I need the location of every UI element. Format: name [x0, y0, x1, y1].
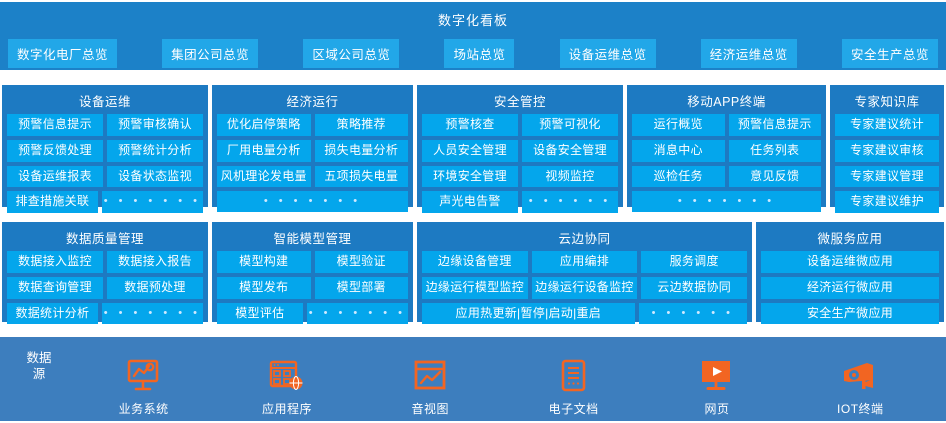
tile-0-1[interactable]: 预警信息提示	[729, 114, 822, 136]
tile-1-0[interactable]: 消息中心	[632, 140, 725, 162]
tile-row: 风机理论发电量 五项损失电量	[217, 166, 408, 188]
tile-row: 数据查询管理 数据预处理	[7, 277, 203, 299]
tile-0-2[interactable]: 服务调度	[641, 251, 747, 273]
tile-2-0[interactable]: 环境安全管理	[422, 166, 518, 188]
tile-2-0[interactable]: 安全生产微应用	[761, 303, 939, 325]
panel-title: 数据质量管理	[7, 226, 203, 251]
tile-row: 边缘设备管理 应用编排 服务调度	[422, 251, 747, 273]
tile-row: 巡检任务 意见反馈	[632, 166, 821, 188]
tile-0-0[interactable]: 预警核查	[422, 114, 518, 136]
header-tab-3[interactable]: 场站总览	[444, 39, 514, 68]
tile-row: 经济运行微应用	[761, 277, 939, 299]
header-tab-0[interactable]: 数字化电厂总览	[8, 39, 117, 68]
tile-1-0[interactable]: 预警反馈处理	[7, 140, 103, 162]
tile-3-0[interactable]: 排查措施关联	[7, 191, 98, 213]
tile-more-indicator: • • • • • • •	[102, 191, 203, 213]
datasource-item-label: 电子文档	[549, 400, 599, 417]
tile-1-0[interactable]: 数据查询管理	[7, 277, 103, 299]
tile-row: 环境安全管理 视频监控	[422, 166, 618, 188]
tile-1-1[interactable]: 损失电量分析	[315, 140, 409, 162]
business-system-icon	[126, 356, 162, 396]
header-tab-1[interactable]: 集团公司总览	[162, 39, 258, 68]
tile-row: 安全生产微应用	[761, 303, 939, 325]
tile-1-0[interactable]: 经济运行微应用	[761, 277, 939, 299]
panel-microservice-app: 微服务应用 设备运维微应用 经济运行微应用 安全生产微应用	[756, 222, 944, 322]
tile-1-1[interactable]: 数据预处理	[107, 277, 203, 299]
tile-0-0[interactable]: 数据接入监控	[7, 251, 103, 273]
page-title: 数字化看板	[0, 2, 946, 29]
datasource-item-media[interactable]: 音视图	[375, 356, 485, 417]
iot-camera-icon	[841, 356, 879, 396]
tile-row: 人员安全管理 设备安全管理	[422, 140, 618, 162]
tile-row: 数据统计分析 • • • • • • •	[7, 303, 203, 325]
document-icon	[559, 356, 589, 396]
datasource-item-business-system[interactable]: 业务系统	[89, 356, 199, 417]
tile-1-1[interactable]: 模型部署	[315, 277, 409, 299]
datasource-item-label: 应用程序	[262, 400, 312, 417]
tile-2-0[interactable]: 设备运维报表	[7, 166, 103, 188]
panel-title: 云边协同	[422, 226, 747, 251]
tile-0-1[interactable]: 数据接入报告	[107, 251, 203, 273]
tile-0-0[interactable]: 模型构建	[217, 251, 311, 273]
tile-2-0[interactable]: 模型评估	[217, 303, 303, 325]
header-bar: 数字化看板 数字化电厂总览 集团公司总览 区域公司总览 场站总览 设备运维总览 …	[0, 2, 946, 70]
datasource-item-iot-terminal[interactable]: IOT终端	[805, 356, 915, 417]
tile-0-0[interactable]: 优化启停策略	[217, 114, 311, 136]
tile-row: 运行概览 预警信息提示	[632, 114, 821, 136]
tile-0-0[interactable]: 运行概览	[632, 114, 725, 136]
panel-intelligent-model: 智能模型管理 模型构建 模型验证 模型发布 模型部署 模型评估 • • • • …	[212, 222, 413, 322]
datasource-item-application[interactable]: 应用程序	[232, 356, 342, 417]
tile-row: 设备运维微应用	[761, 251, 939, 273]
tile-row: 边缘运行模型监控 边缘运行设备监控 云边数据协同	[422, 277, 747, 299]
tile-row: 排查措施关联 • • • • • • •	[7, 191, 203, 213]
tile-row: 消息中心 任务列表	[632, 140, 821, 162]
header-tab-6[interactable]: 安全生产总览	[842, 39, 938, 68]
tile-0-1[interactable]: 预警可视化	[522, 114, 618, 136]
tile-1-1[interactable]: 预警统计分析	[107, 140, 203, 162]
panel-title: 专家知识库	[835, 89, 939, 114]
header-tab-list: 数字化电厂总览 集团公司总览 区域公司总览 场站总览 设备运维总览 经济运维总览…	[0, 29, 946, 68]
tile-0-0[interactable]: 专家建议统计	[835, 114, 939, 136]
panel-title: 安全管控	[422, 89, 618, 114]
tile-row: 预警核查 预警可视化	[422, 114, 618, 136]
panel-safety-control: 安全管控 预警核查 预警可视化 人员安全管理 设备安全管理 环境安全管理 视频监…	[417, 85, 623, 207]
tile-2-0[interactable]: 专家建议管理	[835, 166, 939, 188]
tile-1-0[interactable]: 模型发布	[217, 277, 311, 299]
tile-row: 模型评估 • • • • • • •	[217, 303, 408, 325]
tile-row: 数据接入监控 数据接入报告	[7, 251, 203, 273]
tile-more-indicator: • • • • • •	[639, 303, 747, 325]
tile-row: 专家建议维护	[835, 191, 939, 213]
tile-more-indicator: • • • • • • •	[307, 303, 408, 325]
webpage-icon	[699, 356, 735, 396]
application-icon	[269, 356, 305, 396]
tile-1-1[interactable]: 任务列表	[729, 140, 822, 162]
panel-title: 经济运行	[217, 89, 408, 114]
datasource-item-list: 业务系统	[72, 345, 932, 417]
tile-row: 模型发布 模型部署	[217, 277, 408, 299]
datasource-item-webpage[interactable]: 网页	[662, 356, 772, 417]
tile-2-1[interactable]: 视频监控	[522, 166, 618, 188]
header-tab-4[interactable]: 设备运维总览	[560, 39, 656, 68]
tile-0-1[interactable]: 模型验证	[315, 251, 409, 273]
tile-row: 应用热更新|暂停|启动|重启 • • • • • •	[422, 303, 747, 325]
tile-0-0[interactable]: 边缘设备管理	[422, 251, 528, 273]
tile-row: 预警反馈处理 预警统计分析	[7, 140, 203, 162]
panel-data-quality: 数据质量管理 数据接入监控 数据接入报告 数据查询管理 数据预处理 数据统计分析…	[2, 222, 208, 322]
tile-row: 厂用电量分析 损失电量分析	[217, 140, 408, 162]
tile-row: 优化启停策略 策略推荐	[217, 114, 408, 136]
tile-2-1[interactable]: 五项损失电量	[315, 166, 409, 188]
datasource-bar: 数据源 业务系统	[0, 337, 946, 421]
tile-3-0[interactable]: 声光电告警	[422, 191, 518, 213]
panel-title: 移动APP终端	[632, 89, 821, 114]
tile-row: • • • • • • •	[217, 191, 408, 212]
tile-1-0[interactable]: 边缘运行模型监控	[422, 277, 528, 299]
tile-2-0[interactable]: 巡检任务	[632, 166, 725, 188]
tile-row: 专家建议管理	[835, 166, 939, 188]
tile-row: 声光电告警 • • • • • •	[422, 191, 618, 213]
tile-more-indicator: • • • • • • •	[217, 191, 408, 212]
tile-2-0[interactable]: 应用热更新|暂停|启动|重启	[422, 303, 635, 325]
tile-row: 专家建议统计	[835, 114, 939, 136]
tile-2-0[interactable]: 数据统计分析	[7, 303, 98, 325]
tile-0-1[interactable]: 应用编排	[532, 251, 638, 273]
tile-row: 模型构建 模型验证	[217, 251, 408, 273]
panel-equipment-om: 设备运维 预警信息提示 预警审核确认 预警反馈处理 预警统计分析 设备运维报表 …	[2, 85, 208, 207]
tile-row: 设备运维报表 设备状态监视	[7, 166, 203, 188]
tile-1-2[interactable]: 云边数据协同	[641, 277, 747, 299]
panel-title: 智能模型管理	[217, 226, 408, 251]
panel-cloud-edge: 云边协同 边缘设备管理 应用编排 服务调度 边缘运行模型监控 边缘运行设备监控 …	[417, 222, 752, 322]
header-tab-5[interactable]: 经济运维总览	[701, 39, 797, 68]
tile-1-1[interactable]: 设备安全管理	[522, 140, 618, 162]
panel-economic-operation: 经济运行 优化启停策略 策略推荐 厂用电量分析 损失电量分析 风机理论发电量 五…	[212, 85, 413, 207]
datasource-item-label: 音视图	[412, 400, 450, 417]
datasource-item-label: 业务系统	[119, 400, 169, 417]
tile-2-1[interactable]: 意见反馈	[729, 166, 822, 188]
tile-more-indicator: • • • • • • •	[102, 303, 203, 325]
tile-row: 专家建议审核	[835, 140, 939, 162]
tile-0-0[interactable]: 设备运维微应用	[761, 251, 939, 273]
tile-1-0[interactable]: 专家建议审核	[835, 140, 939, 162]
tile-more-indicator: • • • • • • •	[632, 191, 821, 212]
tile-2-1[interactable]: 设备状态监视	[107, 166, 203, 188]
datasource-label: 数据源	[26, 351, 52, 382]
datasource-item-label: IOT终端	[837, 400, 884, 417]
tile-more-indicator: • • • • • •	[522, 191, 618, 213]
tile-row: 预警信息提示 预警审核确认	[7, 114, 203, 136]
datasource-item-document[interactable]: 电子文档	[519, 356, 629, 417]
tile-0-1[interactable]: 预警审核确认	[107, 114, 203, 136]
panel-mobile-app: 移动APP终端 运行概览 预警信息提示 消息中心 任务列表 巡检任务 意见反馈 …	[627, 85, 826, 207]
tile-0-0[interactable]: 预警信息提示	[7, 114, 103, 136]
panel-expert-knowledge: 专家知识库 专家建议统计 专家建议审核 专家建议管理 专家建议维护	[830, 85, 944, 207]
media-icon	[413, 356, 447, 396]
header-tab-2[interactable]: 区域公司总览	[303, 39, 399, 68]
tile-3-0[interactable]: 专家建议维护	[835, 191, 939, 213]
tile-row: • • • • • • •	[632, 191, 821, 212]
dashboard-page: 数字化看板 数字化电厂总览 集团公司总览 区域公司总览 场站总览 设备运维总览 …	[0, 0, 946, 423]
tile-1-0[interactable]: 厂用电量分析	[217, 140, 311, 162]
tile-0-1[interactable]: 策略推荐	[315, 114, 409, 136]
tile-1-0[interactable]: 人员安全管理	[422, 140, 518, 162]
datasource-item-label: 网页	[704, 400, 729, 417]
tile-2-0[interactable]: 风机理论发电量	[217, 166, 311, 188]
tile-1-1[interactable]: 边缘运行设备监控	[532, 277, 638, 299]
panel-title: 微服务应用	[761, 226, 939, 251]
panel-title: 设备运维	[7, 89, 203, 114]
